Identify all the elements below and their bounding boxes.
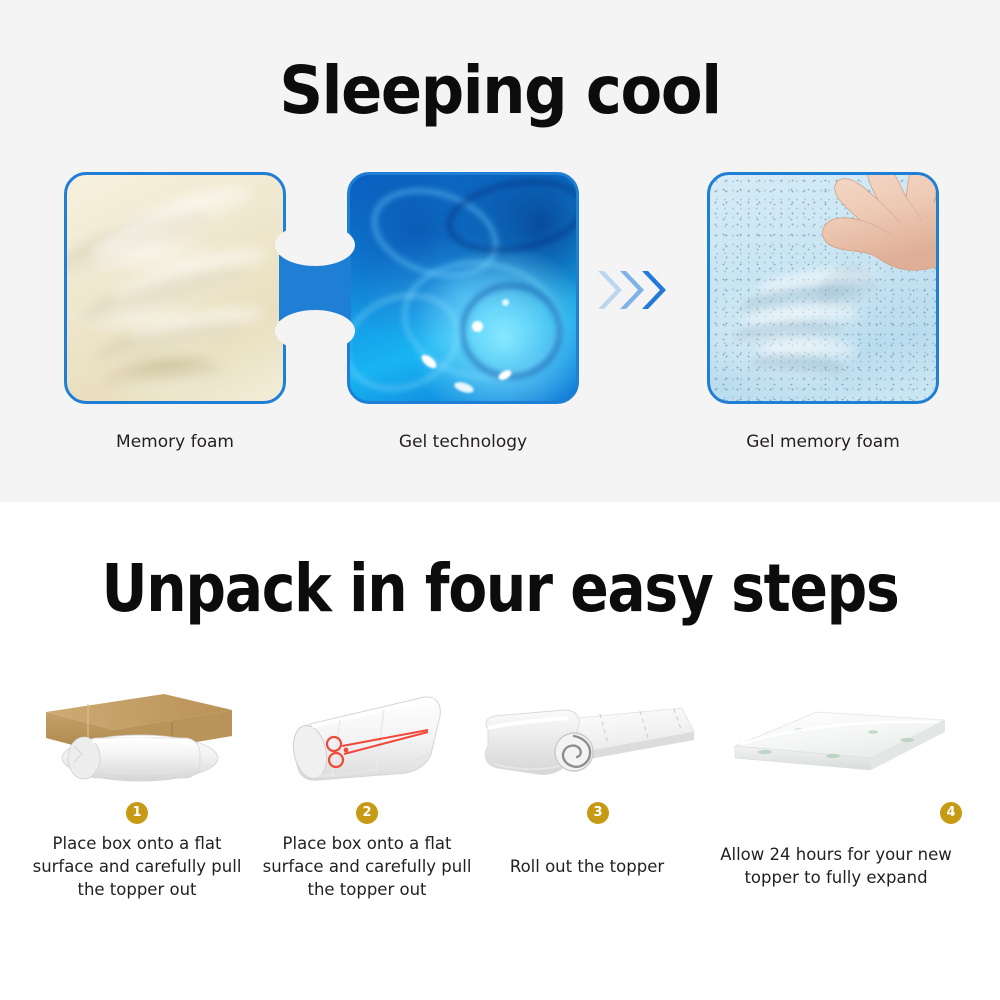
steps-row: 1 Place box onto a flat surface and care… [0,680,1000,940]
gel-highlight [502,299,509,306]
label-gel-technology: Gel technology [347,432,579,452]
bowtie-connector-icon [279,255,351,321]
hand-icon [796,172,939,297]
gel-highlight [453,380,475,395]
gel-highlight [472,321,483,332]
sleeping-cool-section: Sleeping cool [0,0,1000,502]
step-badge: 1 [126,802,148,824]
step-badge: 3 [587,802,609,824]
step-badge: 4 [940,802,962,824]
label-gel-memory-foam: Gel memory foam [707,432,939,452]
label-memory-foam: Memory foam [64,432,286,452]
flat-expanded-topper-icon [721,680,951,792]
step-item: 3 Roll out the topper [472,680,702,940]
memory-foam-panel [64,172,286,404]
foam-ridge [758,341,858,363]
unrolling-topper-icon [472,680,702,792]
page-title-sleeping-cool: Sleeping cool [40,52,960,130]
gel-memory-foam-panel [707,172,939,404]
wrapped-roll-with-scissors-icon [252,680,482,792]
step-badge: 2 [356,802,378,824]
page-title-unpack: Unpack in four easy steps [70,550,930,628]
unpack-steps-section: Unpack in four easy steps [0,502,1000,1000]
step-caption: Allow 24 hours for your new topper to fu… [711,843,961,889]
chevron-right-triple-icon [596,268,668,312]
step-item: 1 Place box onto a flat surface and care… [22,680,252,940]
step-item: 4 Allow 24 hours for your new topper to … [721,680,951,940]
box-with-wrapped-roll-icon [22,680,252,792]
step-item: 2 Place box onto a flat surface and care… [252,680,482,940]
step-caption: Place box onto a flat surface and carefu… [22,832,252,901]
step-caption: Roll out the topper [472,855,702,878]
product-infographic: Sleeping cool [0,0,1000,1000]
step-caption: Place box onto a flat surface and carefu… [252,832,482,901]
gel-technology-panel [347,172,579,404]
